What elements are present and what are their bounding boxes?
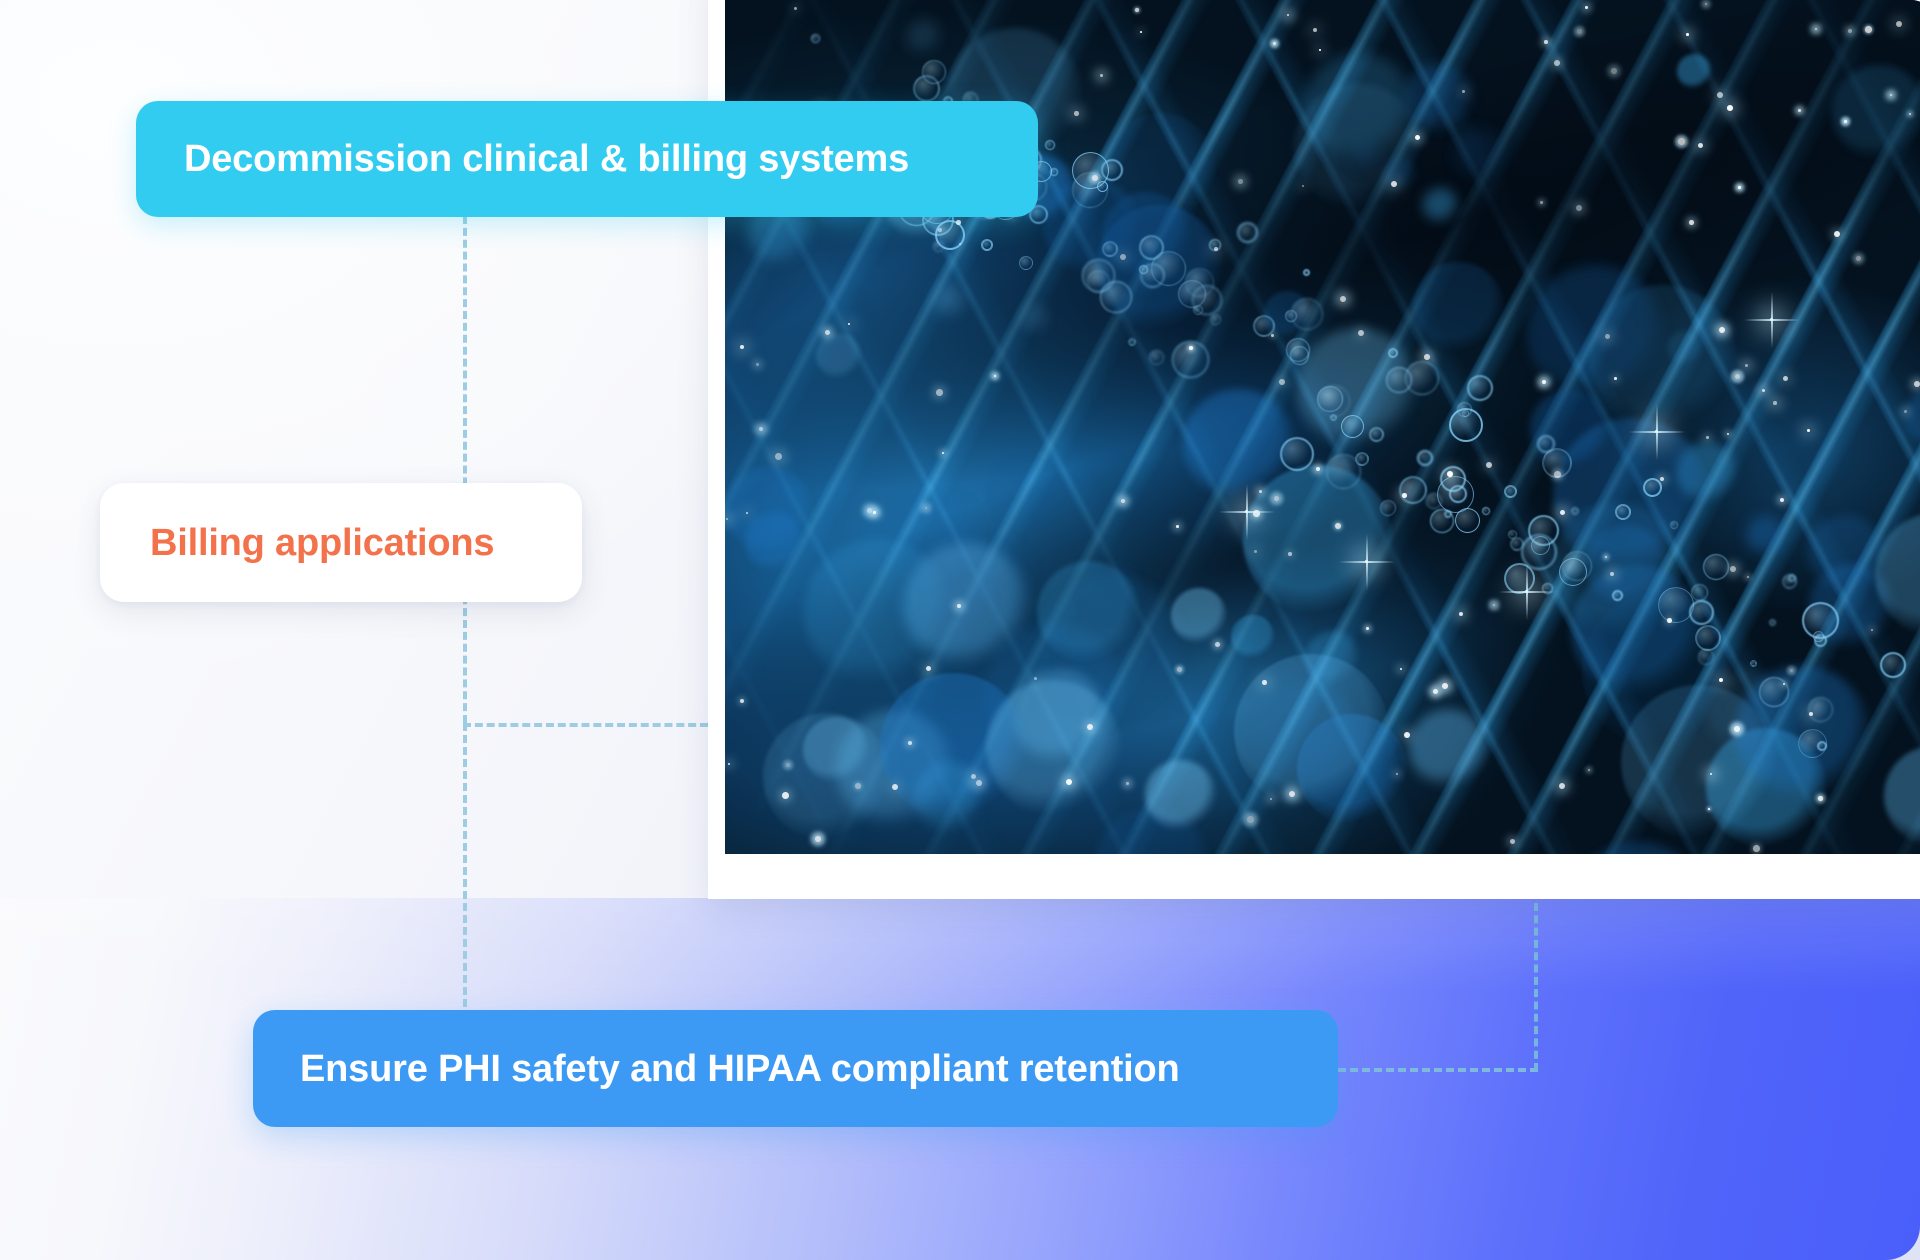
sparkle-point <box>815 836 821 842</box>
sparkle-point <box>1844 120 1847 123</box>
sparkle-point <box>728 763 730 765</box>
water-droplet <box>1703 554 1729 580</box>
bokeh-disc <box>887 492 979 584</box>
sparkle-point <box>1773 401 1777 405</box>
sparkle-point <box>1340 296 1346 302</box>
bokeh-disc <box>1171 588 1227 644</box>
water-droplet <box>1462 410 1469 417</box>
water-droplet <box>1802 602 1839 639</box>
sparkle-point <box>1717 92 1723 98</box>
sparkle-point <box>1904 410 1907 413</box>
sparkle-point <box>1605 556 1607 558</box>
bokeh-disc <box>1553 418 1710 575</box>
water-droplet <box>1612 590 1623 601</box>
sparkle-point <box>1092 175 1098 181</box>
diagram-canvas: Decommission clinical & billing systems … <box>0 0 1920 1260</box>
water-droplet <box>922 60 946 84</box>
sparkle-point <box>1135 8 1139 12</box>
water-droplet <box>1399 476 1427 504</box>
sparkle-point <box>925 507 927 509</box>
sparkle-point <box>1087 724 1093 730</box>
bokeh-disc <box>1096 807 1209 854</box>
water-droplet <box>1072 152 1109 189</box>
sparkle-point <box>1442 683 1448 689</box>
sparkle-point <box>936 389 943 396</box>
water-droplet <box>1097 181 1108 192</box>
water-droplet <box>1050 168 1058 176</box>
bokeh-disc <box>1621 685 1776 840</box>
sparkle-point <box>1544 40 1548 44</box>
water-droplet <box>1510 537 1524 551</box>
sparkle-point <box>994 375 996 377</box>
water-droplet <box>1562 551 1592 581</box>
node-decommission-systems[interactable]: Decommission clinical & billing systems <box>136 101 1038 217</box>
bokeh-disc <box>1297 714 1407 824</box>
sparkle-point <box>1554 471 1561 478</box>
water-droplet <box>1430 509 1454 533</box>
sparkle-point <box>1140 31 1142 33</box>
water-droplet <box>1615 504 1631 520</box>
water-droplet <box>1691 584 1708 601</box>
water-droplet <box>1689 600 1714 625</box>
water-droplet <box>1128 338 1136 346</box>
water-droplet <box>1172 341 1209 378</box>
sparkle-point <box>1176 525 1179 528</box>
bokeh-disc <box>1037 561 1140 664</box>
sparkle-point <box>1215 642 1220 647</box>
sparkle-point <box>1540 201 1543 204</box>
sparkle-point <box>1576 205 1582 211</box>
water-droplet <box>1290 346 1309 365</box>
bokeh-disc <box>1454 128 1505 179</box>
bokeh-disc <box>1304 53 1415 164</box>
sparkle-point <box>926 666 931 671</box>
water-droplet <box>1100 281 1132 313</box>
water-droplet <box>1326 454 1361 489</box>
water-droplet <box>1280 437 1314 471</box>
sparkle-point <box>1279 379 1285 385</box>
water-droplet <box>981 239 993 251</box>
sparkle-point <box>1798 109 1801 112</box>
bokeh-disc <box>1234 654 1389 809</box>
bokeh-disc <box>1102 192 1190 280</box>
water-droplet <box>1542 448 1572 478</box>
sparkle-point <box>908 741 912 745</box>
bokeh-disc <box>1706 669 1788 751</box>
bokeh-disc <box>1043 178 1140 275</box>
water-droplet <box>1303 269 1310 276</box>
sparkle-point <box>1834 231 1840 237</box>
bokeh-disc <box>1012 669 1107 764</box>
sparkle-point <box>1214 247 1218 251</box>
sparkle-point <box>1896 21 1902 27</box>
bokeh-disc <box>1582 592 1738 748</box>
bokeh-disc <box>1135 261 1167 293</box>
bokeh-disc <box>1808 515 1884 591</box>
bokeh-disc <box>934 285 966 317</box>
sparkle-point <box>1667 618 1672 623</box>
water-droplet <box>1814 634 1827 647</box>
sparkle-point <box>1247 816 1254 823</box>
sparkle-point <box>756 363 759 366</box>
bokeh-disc <box>1676 442 1737 503</box>
sparkle-point <box>1415 135 1420 140</box>
bokeh-disc <box>1257 688 1354 785</box>
water-droplet <box>1149 350 1164 365</box>
bokeh-disc <box>1677 54 1712 89</box>
bokeh-disc <box>986 680 1121 815</box>
bokeh-disc <box>1735 666 1870 801</box>
water-droplet <box>1082 259 1115 292</box>
sparkle-point <box>1698 143 1703 148</box>
water-droplet <box>1658 587 1694 623</box>
node-decommission-systems-label: Decommission clinical & billing systems <box>184 140 909 178</box>
bokeh-disc <box>1096 205 1222 331</box>
water-droplet <box>1437 476 1474 513</box>
sparkle-point <box>1780 498 1784 502</box>
sparkle-point <box>1510 839 1515 844</box>
sparkle-point <box>1660 477 1664 481</box>
water-droplet <box>1759 677 1789 707</box>
water-droplet <box>1817 741 1827 751</box>
water-droplet <box>1798 729 1827 758</box>
water-droplet <box>1193 305 1203 315</box>
water-droplet <box>933 241 944 252</box>
star-flare-ray <box>1366 534 1368 590</box>
bokeh-disc <box>1904 388 1920 446</box>
sparkle-point <box>1271 334 1274 337</box>
water-droplet <box>1140 263 1165 288</box>
bokeh-disc <box>836 710 954 828</box>
sparkle-point <box>786 763 790 767</box>
sparkle-point <box>1066 779 1072 785</box>
sparkle-point <box>1611 68 1617 74</box>
water-droplet <box>1192 285 1222 315</box>
sparkle-point <box>1605 334 1610 339</box>
water-droplet <box>1286 338 1310 362</box>
bokeh-disc <box>1746 516 1785 555</box>
water-droplet <box>1317 386 1343 412</box>
bokeh-disc <box>1264 291 1311 338</box>
connector-phi-to-right <box>1338 1068 1538 1072</box>
water-droplet <box>1482 507 1490 515</box>
water-droplet <box>1643 478 1662 497</box>
sparkle-point <box>855 783 861 789</box>
sparkle-point <box>782 792 789 799</box>
sparkle-point <box>1433 689 1438 694</box>
bokeh-disc <box>804 539 951 686</box>
water-droplet <box>1072 172 1108 208</box>
sparkle-point <box>1262 680 1267 685</box>
bokeh-disc <box>1021 304 1050 333</box>
water-droplet <box>1151 251 1186 286</box>
sparkle-point <box>942 452 944 454</box>
bokeh-disc <box>1571 565 1703 697</box>
bokeh-disc <box>985 454 1066 535</box>
bokeh-disc <box>1351 143 1381 173</box>
bokeh-disc <box>1409 709 1488 788</box>
bokeh-disc <box>1706 728 1826 848</box>
bokeh-disc <box>1297 328 1418 449</box>
bokeh-disc <box>906 19 941 54</box>
sparkle-point <box>1366 627 1369 630</box>
sparkle-point <box>1710 773 1712 775</box>
sparkle-point <box>1790 669 1793 672</box>
water-droplet <box>1101 159 1123 181</box>
bokeh-disc <box>1832 65 1920 160</box>
bokeh-disc <box>1875 513 1920 636</box>
water-droplet <box>1750 660 1757 667</box>
star-flare-ray <box>1246 484 1248 540</box>
water-droplet <box>1440 466 1466 492</box>
sparkle-point <box>1559 783 1565 789</box>
node-phi-retention[interactable]: Ensure PHI safety and HIPAA compliant re… <box>253 1010 1338 1127</box>
sparkle-point <box>1404 732 1410 738</box>
water-droplet <box>1559 558 1587 586</box>
star-flare-ray <box>1526 564 1528 620</box>
water-droplet <box>1285 310 1297 322</box>
sparkle-point <box>1542 380 1546 384</box>
sparkle-point <box>1678 138 1685 145</box>
water-droplet <box>1426 493 1442 509</box>
sparkle-point <box>740 345 744 349</box>
water-droplet <box>1571 507 1579 515</box>
sparkle-point <box>1719 678 1723 682</box>
sparkle-point <box>848 323 850 325</box>
sparkle-point <box>1848 29 1852 33</box>
bokeh-disc <box>725 467 812 554</box>
sparkle-point <box>1734 726 1740 732</box>
sparkle-point <box>740 699 744 703</box>
water-droplet <box>1318 385 1350 417</box>
bokeh-disc <box>1667 331 1701 365</box>
bokeh-disc <box>1385 159 1416 190</box>
water-droplet <box>1769 619 1776 626</box>
sparkle-point <box>1396 773 1398 775</box>
sparkle-point <box>1815 28 1817 30</box>
sparkle-point <box>1402 493 1407 498</box>
water-droplet <box>1695 625 1721 651</box>
water-droplet <box>1449 408 1483 442</box>
sparkle-point <box>1313 28 1317 32</box>
bokeh-disc <box>1231 615 1275 659</box>
water-droplet <box>1444 510 1452 518</box>
sparkle-point <box>1288 552 1292 556</box>
bokeh-disc <box>1413 262 1504 353</box>
sparkle-point <box>726 518 728 520</box>
sparkle-point <box>1783 376 1788 381</box>
water-droplet <box>1019 256 1033 270</box>
sparkle-point <box>1730 566 1736 572</box>
sparkle-point <box>1289 791 1295 797</box>
water-droplet <box>1504 563 1535 594</box>
sparkle-point <box>1447 471 1453 477</box>
sparkle-point <box>1100 74 1103 77</box>
bokeh-disc <box>904 543 1029 668</box>
star-flare-ray <box>1771 292 1773 348</box>
water-droplet <box>1537 435 1555 453</box>
water-droplet <box>1237 222 1258 243</box>
water-droplet <box>935 220 965 250</box>
water-droplet <box>913 75 940 102</box>
water-droplet <box>1813 631 1824 642</box>
sparkle-point <box>1121 499 1125 503</box>
bokeh-disc <box>1549 503 1682 636</box>
sparkle-point <box>1719 327 1725 333</box>
bokeh-disc <box>1809 564 1894 649</box>
sparkle-point <box>759 427 763 431</box>
bokeh-disc <box>1039 576 1186 723</box>
sparkle-point <box>1727 105 1733 111</box>
sparkle-point <box>1818 796 1823 801</box>
sparkle-point <box>1459 612 1463 616</box>
water-droplet <box>1670 521 1678 529</box>
water-droplet <box>1388 348 1398 358</box>
sparkle-point <box>892 784 898 790</box>
node-billing-applications[interactable]: Billing applications <box>100 483 582 602</box>
bokeh-disc <box>1183 389 1294 500</box>
water-droplet <box>1139 235 1164 260</box>
water-droplet <box>1508 530 1517 539</box>
sparkle-point <box>1486 462 1492 468</box>
sparkle-point <box>1708 808 1710 810</box>
sparkle-point <box>1706 436 1709 439</box>
sparkle-point <box>1783 683 1785 685</box>
sparkle-point <box>1856 256 1861 261</box>
sparkle-point <box>971 774 976 779</box>
sparkle-point <box>1259 490 1262 493</box>
sparkle-point <box>867 508 872 513</box>
bokeh-disc <box>984 624 1124 764</box>
sparkle-point <box>1316 467 1320 471</box>
bokeh-disc <box>763 713 891 841</box>
water-droplet <box>1782 574 1797 589</box>
sparkle-point <box>1762 389 1765 392</box>
water-droplet <box>1531 536 1550 555</box>
water-droplet <box>1449 485 1467 503</box>
water-droplet <box>1185 268 1214 297</box>
water-droplet <box>1467 375 1493 401</box>
sparkle-point <box>1735 374 1740 379</box>
water-droplet <box>1457 402 1472 417</box>
star-flare-ray <box>1656 404 1658 460</box>
water-droplet <box>1528 515 1559 546</box>
water-droplet <box>1139 265 1148 274</box>
water-droplet <box>1102 241 1118 257</box>
bokeh-disc <box>1104 113 1217 226</box>
sparkle-point <box>1753 845 1760 852</box>
sparkle-point <box>1493 604 1495 606</box>
water-droplet <box>1369 427 1384 442</box>
sparkle-point <box>1585 6 1588 9</box>
sparkle-point <box>957 604 961 608</box>
bokeh-disc <box>1084 565 1139 620</box>
water-droplet <box>1380 500 1396 516</box>
sparkle-point <box>1238 179 1243 184</box>
bokeh-disc <box>880 673 1027 820</box>
node-phi-retention-label: Ensure PHI safety and HIPAA compliant re… <box>300 1050 1180 1088</box>
sparkle-point <box>1577 29 1582 34</box>
connector-decommission-to-trunk <box>463 216 467 723</box>
sparkle-point <box>1890 94 1892 96</box>
sparkle-point <box>1560 510 1565 515</box>
sparkle-point <box>1074 111 1079 116</box>
sparkle-point <box>1914 381 1920 387</box>
sparkle-point <box>1727 433 1729 435</box>
sparkle-point <box>1126 782 1129 785</box>
sparkle-point <box>794 7 797 10</box>
water-droplet <box>1355 452 1369 466</box>
sparkle-point <box>1177 667 1182 672</box>
bokeh-disc <box>1403 64 1474 135</box>
connector-trunk-to-phi <box>463 723 467 1019</box>
water-droplet <box>1178 280 1206 308</box>
sparkle-point <box>746 512 748 514</box>
water-droplet <box>1808 697 1833 722</box>
water-droplet <box>1417 450 1433 466</box>
bokeh-disc <box>1306 631 1359 684</box>
bokeh-disc <box>745 512 804 571</box>
sparkle-point <box>1319 49 1321 51</box>
sparkle-point <box>1807 429 1810 432</box>
water-droplet <box>1504 485 1517 498</box>
sparkle-point <box>825 330 830 335</box>
sparkle-point <box>1614 377 1617 380</box>
water-droplet <box>1087 270 1110 293</box>
sparkle-point <box>1287 14 1289 16</box>
water-droplet <box>1405 361 1439 395</box>
sparkle-point <box>1358 330 1364 336</box>
sparkle-point <box>1302 185 1304 187</box>
water-droplet <box>1253 315 1275 337</box>
water-droplet <box>811 34 820 43</box>
sparkle-point <box>1335 523 1341 529</box>
bokeh-disc <box>1884 746 1920 846</box>
bokeh-disc <box>1570 842 1707 854</box>
sparkle-point <box>1747 576 1749 578</box>
sparkle-point <box>1254 550 1257 553</box>
bokeh-disc <box>1530 389 1611 470</box>
sparkle-point <box>1865 26 1872 33</box>
sparkle-point <box>1462 90 1465 93</box>
bokeh-disc <box>1145 760 1216 831</box>
bokeh-disc <box>1527 265 1664 402</box>
sparkle-point <box>1686 33 1689 36</box>
water-droplet <box>1455 508 1480 533</box>
sparkle-point <box>1871 629 1873 631</box>
sparkle-point <box>956 220 961 225</box>
sparkle-point <box>1424 354 1430 360</box>
sparkle-point <box>1610 572 1614 576</box>
water-droplet <box>1788 574 1796 582</box>
water-droplet <box>1341 415 1364 438</box>
sparkle-point <box>1588 769 1590 771</box>
connector-trunk-to-billing <box>463 723 708 727</box>
sparkle-point <box>1273 42 1276 45</box>
sparkle-point <box>1400 668 1402 670</box>
water-droplet <box>1291 298 1323 330</box>
connector-right-riser <box>1534 903 1538 1071</box>
water-droplet <box>1880 652 1906 678</box>
bokeh-disc <box>1294 83 1421 210</box>
water-droplet <box>1210 314 1221 325</box>
bokeh-disc <box>913 762 983 832</box>
bokeh-disc <box>1586 525 1667 606</box>
sparkle-point <box>1034 677 1037 680</box>
sparkle-point <box>938 228 942 232</box>
sparkle-point <box>1274 496 1279 501</box>
sparkle-point <box>1745 364 1748 367</box>
